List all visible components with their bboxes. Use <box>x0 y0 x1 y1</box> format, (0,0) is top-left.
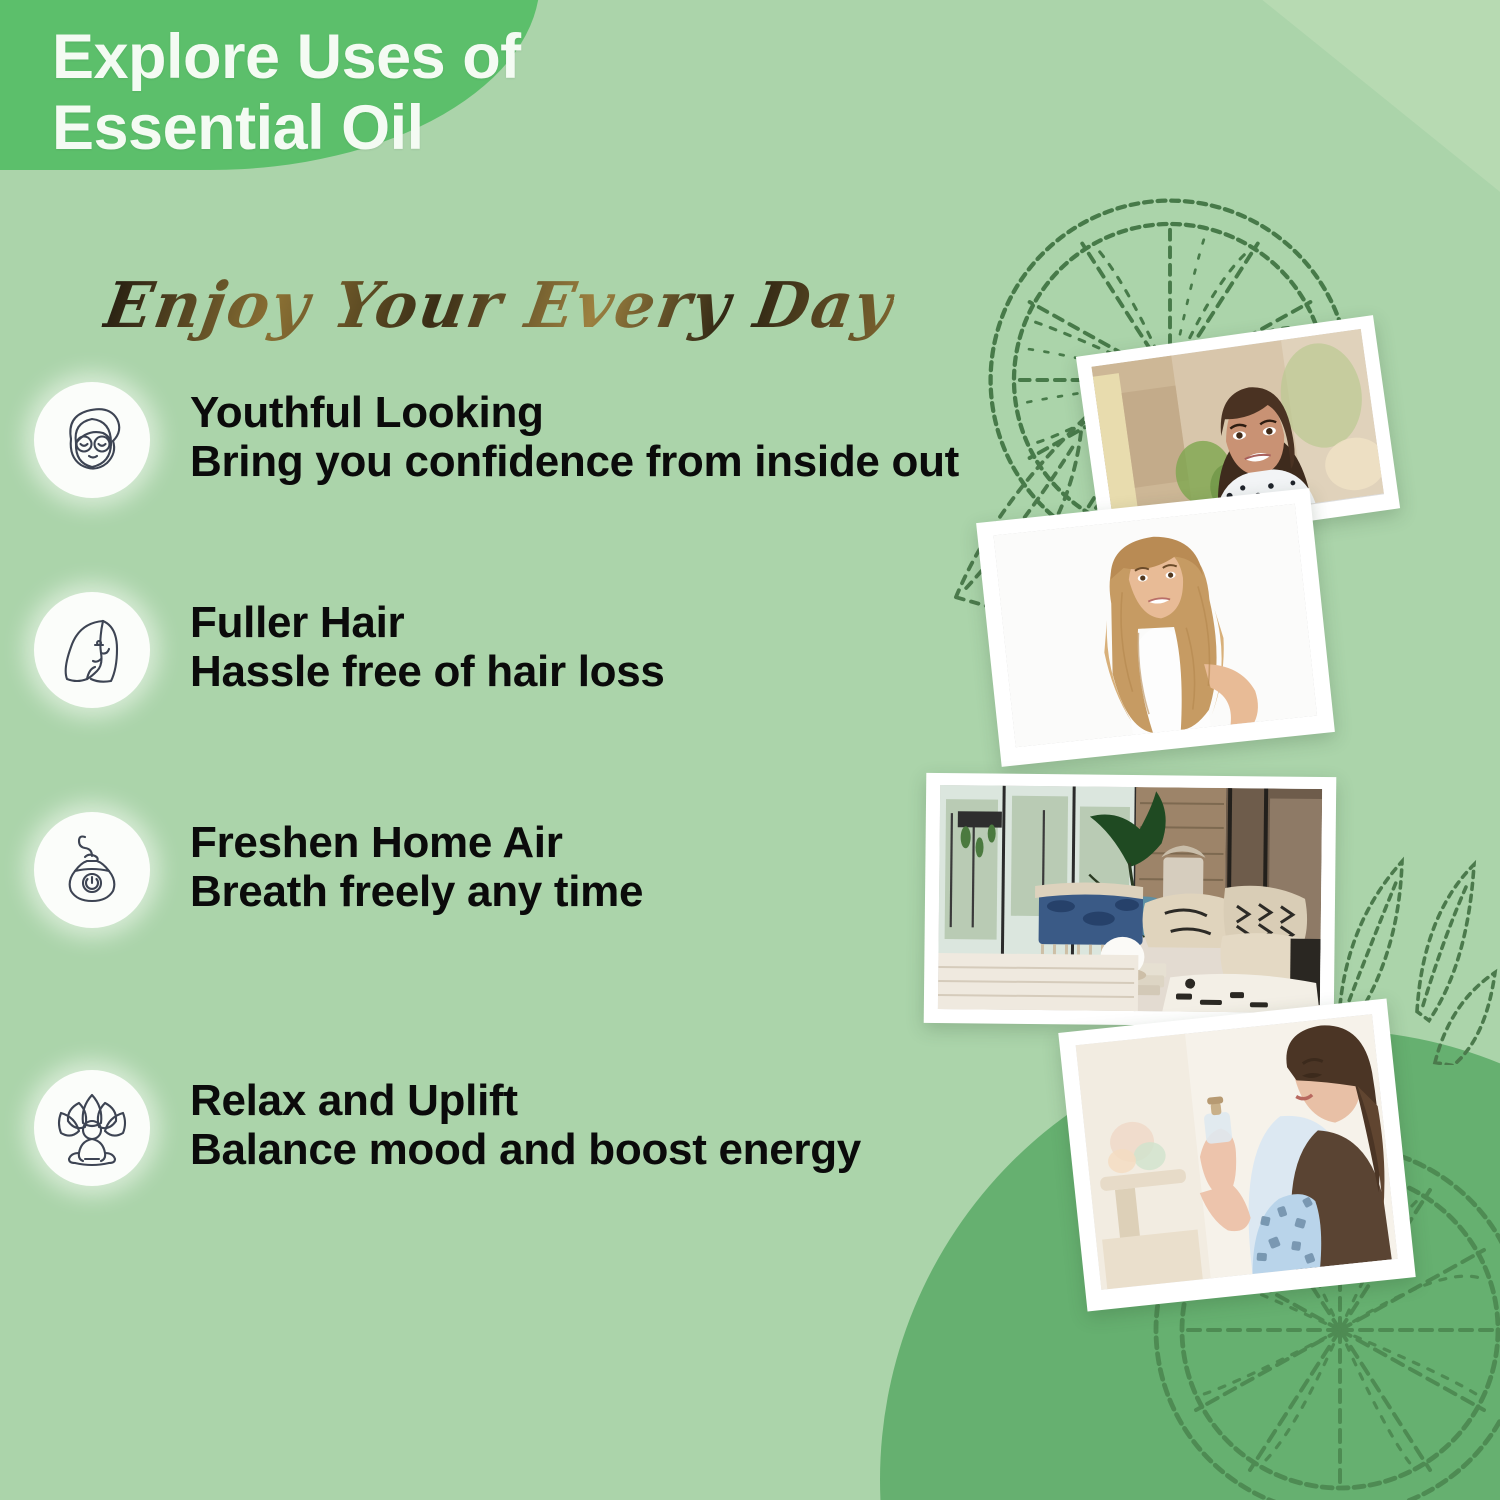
face-mask-icon <box>34 382 150 498</box>
script-tagline: Enjoy Your Every Day <box>99 268 899 342</box>
top-right-wedge-shape <box>1250 0 1500 200</box>
poster-canvas: Explore Uses of Essential Oil Enjoy Your… <box>0 0 1500 1500</box>
boho-living-room-photo <box>924 773 1337 1027</box>
feature-item-relax-and-uplift: Relax and Uplift Balance mood and boost … <box>34 1070 861 1186</box>
aroma-diffuser-icon <box>34 812 150 928</box>
feature-text-block: Youthful Looking Bring you confidence fr… <box>190 382 959 487</box>
long-hair-profile-icon <box>34 592 150 708</box>
feature-text-block: Freshen Home Air Breath freely any time <box>190 812 643 917</box>
feature-text-block: Fuller Hair Hassle free of hair loss <box>190 592 665 697</box>
feature-text-block: Relax and Uplift Balance mood and boost … <box>190 1070 861 1175</box>
feature-item-fuller-hair: Fuller Hair Hassle free of hair loss <box>34 592 665 708</box>
feature-title: Relax and Uplift <box>190 1076 861 1125</box>
feature-title: Fuller Hair <box>190 598 665 647</box>
lotus-meditation-icon <box>34 1070 150 1186</box>
perfume-spray-woman-photo-image <box>1076 1014 1398 1290</box>
boho-living-room-photo-image <box>938 785 1322 1013</box>
wavy-hair-woman-photo <box>976 488 1335 767</box>
feature-item-freshen-home-air: Freshen Home Air Breath freely any time <box>34 812 643 928</box>
feature-subtitle: Bring you confidence from inside out <box>190 437 959 486</box>
feature-item-youthful-looking: Youthful Looking Bring you confidence fr… <box>34 382 959 498</box>
feature-title: Youthful Looking <box>190 388 959 437</box>
perfume-spray-woman-photo <box>1058 999 1415 1312</box>
page-title: Explore Uses of Essential Oil <box>52 22 521 163</box>
feature-title: Freshen Home Air <box>190 818 643 867</box>
feature-subtitle: Hassle free of hair loss <box>190 647 665 696</box>
wavy-hair-woman-photo-image <box>993 504 1317 748</box>
feature-subtitle: Breath freely any time <box>190 867 643 916</box>
feature-subtitle: Balance mood and boost energy <box>190 1125 861 1174</box>
